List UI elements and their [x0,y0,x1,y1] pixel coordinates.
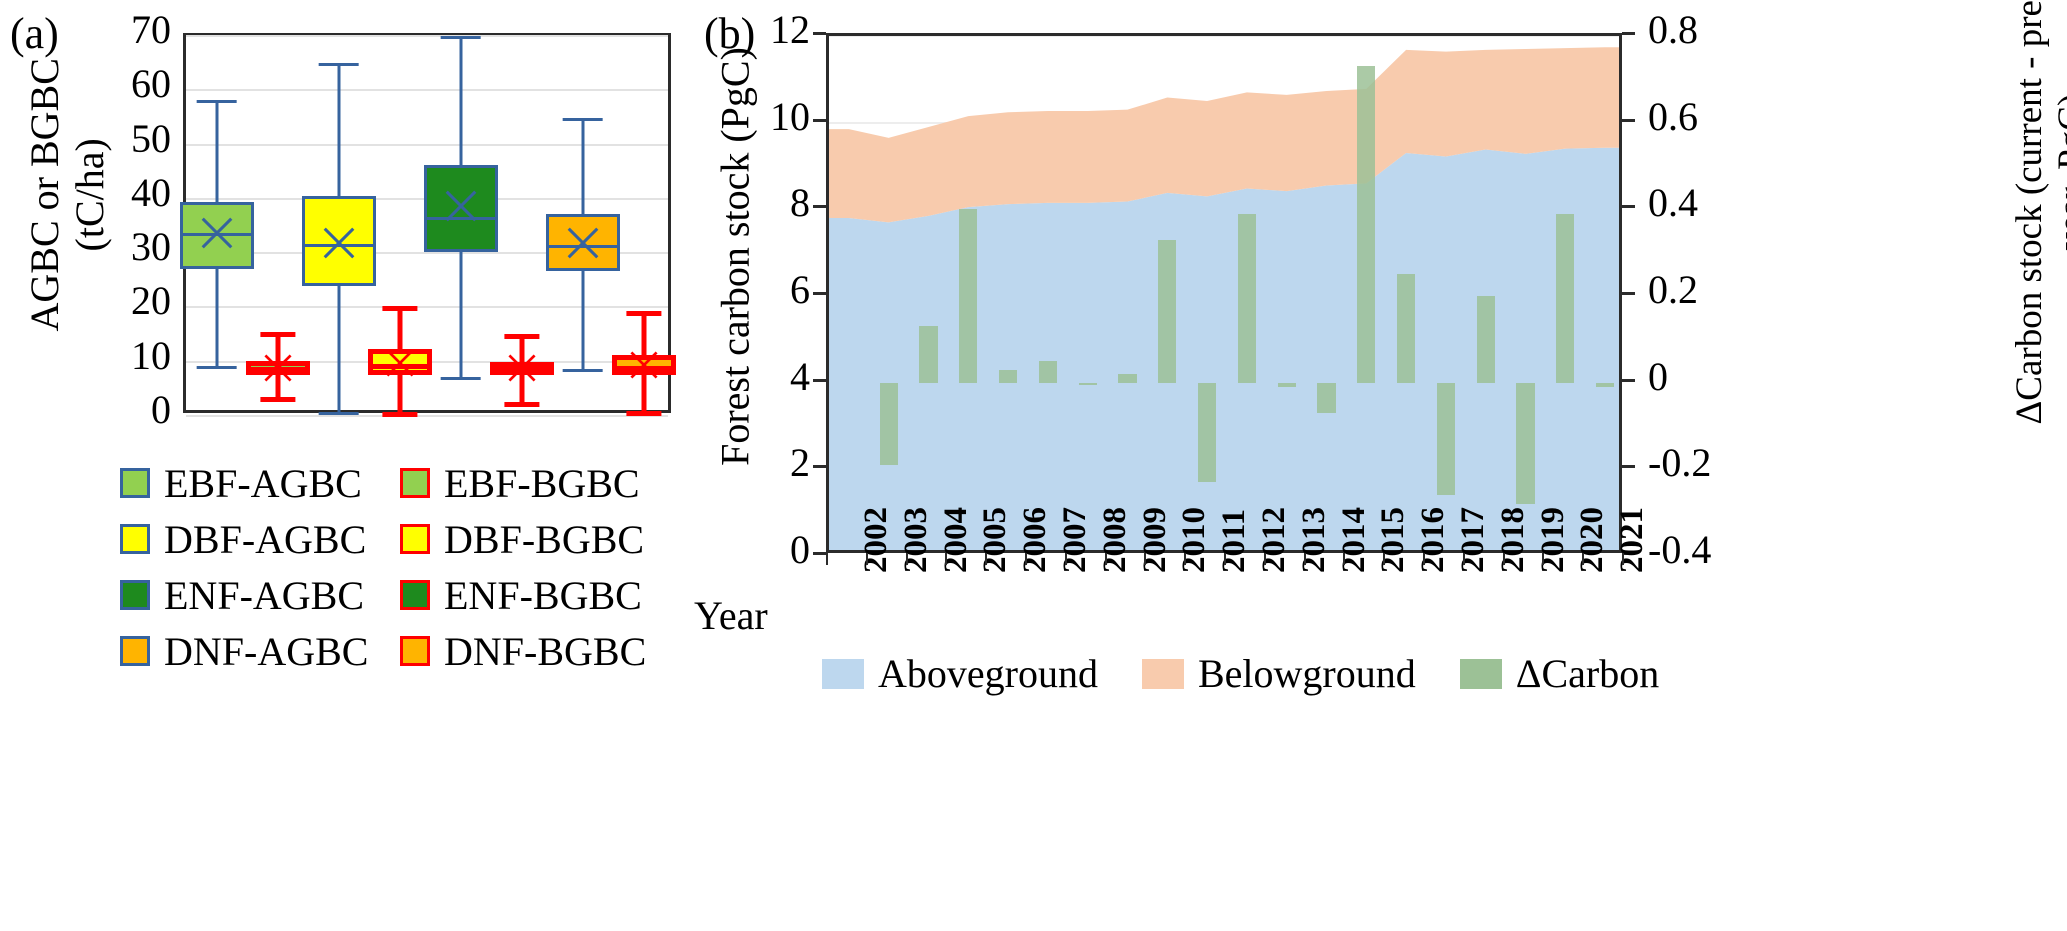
panel-b-left-ticklabel: 10 [714,93,810,140]
legend-item-ebf-bgbc[interactable]: EBF-BGBC [400,460,680,507]
panel-b-x-tickmark [826,553,828,565]
legend-item-enf-bgbc[interactable]: ENF-BGBC [400,572,680,619]
panel-a-legend: EBF-AGBCEBF-BGBCDBF-AGBCDBF-BGBCENF-AGBC… [120,455,680,679]
panel-a-y-ticklabel: 40 [83,169,171,216]
panel-b-right-axis-title-line2: year, PgC) [2051,0,2067,452]
panel-a: (a) AGBC or BGBC (tC/ha) EBF-AGBCEBF-BGB… [0,0,700,931]
panel-b-right-ticklabel: 0.6 [1648,93,1758,140]
panel-b-left-ticklabel: 4 [714,353,810,400]
panel-b-x-tickmark [1105,553,1107,565]
panel-b-left-ticklabel: 2 [714,439,810,486]
mean-marker-icon [566,226,600,260]
panel-b-left-tickmark [813,292,826,295]
whisker-cap-min [626,411,661,416]
delta-carbon-bar [1158,240,1176,383]
panel-b-right-tickmark [1622,379,1635,382]
whisker-cap-max [562,118,603,121]
panel-a-y-ticklabel: 70 [83,6,171,53]
legend-item-belowground[interactable]: Belowground [1142,650,1416,697]
legend-swatch [120,636,150,666]
panel-b-area-svg [829,36,1622,553]
legend-swatch [400,524,430,554]
panel-b-x-tickmark [1383,553,1385,565]
panel-b-year-label: 2012 [1256,507,1293,573]
panel-b-x-tickmark [1144,553,1146,565]
panel-b-left-tickmark [813,379,826,382]
legend-label: DNF-AGBC [164,628,368,675]
legend-label: ΔCarbon [1516,650,1659,697]
panel-b-x-tickmark [1184,553,1186,565]
panel-b-year-label: 2006 [1017,507,1054,573]
legend-swatch [822,659,864,689]
panel-b-right-axis-title: ΔCarbon stock (current - previous year, … [2009,0,2067,452]
delta-carbon-bar [1198,383,1216,483]
panel-b-year-label: 2011 [1216,509,1253,573]
delta-carbon-bar [959,209,977,382]
legend-row: DNF-AGBCDNF-BGBC [120,623,680,679]
panel-b-year-label: 2003 [898,507,935,573]
legend-swatch [1460,659,1502,689]
panel-b-year-label: 2018 [1495,507,1532,573]
panel-a-y-axis-title-line1: AGBC or BGBC [23,0,68,395]
legend-swatch [400,580,430,610]
delta-carbon-bar [1437,383,1455,496]
panel-b-right-ticklabel: 0.2 [1648,266,1758,313]
legend-item-aboveground[interactable]: Aboveground [822,650,1098,697]
whisker-cap-max [196,100,237,103]
delta-carbon-bar [999,370,1017,383]
panel-a-y-ticklabel: 50 [83,115,171,162]
panel-b-year-label: 2019 [1535,507,1572,573]
legend-swatch [400,636,430,666]
legend-swatch [400,468,430,498]
panel-b-x-tickmark [906,553,908,565]
panel-b-legend: AbovegroundBelowgroundΔCarbon [822,650,1682,697]
panel-b-left-tickmark [813,552,826,555]
panel-a-gridline [186,306,668,308]
legend-item-ebf-agbc[interactable]: EBF-AGBC [120,460,400,507]
panel-b-year-label: 2010 [1176,507,1213,573]
delta-carbon-bar [919,326,937,382]
panel-a-y-ticklabel: 60 [83,60,171,107]
whisker-cap-max [382,306,417,311]
panel-a-y-ticklabel: 20 [83,277,171,324]
mean-marker-icon [444,189,478,223]
panel-b-left-ticklabel: 12 [714,6,810,53]
panel-b-left-ticklabel: 8 [714,179,810,226]
delta-carbon-bar [1238,214,1256,383]
legend-swatch [120,468,150,498]
whisker-cap-min [562,369,603,372]
panel-b-right-ticklabel: 0.8 [1648,6,1758,53]
delta-carbon-bar [1516,383,1534,504]
panel-a-gridline [186,35,668,37]
panel-b-year-label: 2008 [1097,507,1134,573]
legend-swatch [120,580,150,610]
delta-carbon-bar [1397,274,1415,382]
whisker-cap-max [260,332,295,337]
whisker-cap-min [382,412,417,417]
panel-b-x-tickmark [1542,553,1544,565]
legend-row: EBF-AGBCEBF-BGBC [120,455,680,511]
panel-b-x-axis-title: Year [694,592,768,639]
panel-b-x-tickmark [1224,553,1226,565]
panel-b-left-ticklabel: 0 [714,526,810,573]
whisker-cap-max [440,36,481,39]
panel-b-right-ticklabel: -0.4 [1648,526,1758,573]
whisker-cap-min [318,412,359,415]
panel-b-x-tickmark [945,553,947,565]
delta-carbon-bar [1357,66,1375,382]
panel-b-x-tickmark [1503,553,1505,565]
panel-b-x-tickmark [1065,553,1067,565]
whisker-cap-min [504,402,539,407]
mean-marker-icon [200,216,234,250]
panel-b-left-tickmark [813,32,826,35]
legend-label: Aboveground [878,650,1098,697]
delta-carbon-bar [1317,383,1335,413]
panel-b-x-tickmark [1582,553,1584,565]
mean-marker-icon [385,348,415,378]
panel-b-plot-area [826,33,1622,553]
legend-item-dbf-agbc[interactable]: DBF-AGBC [120,516,400,563]
panel-a-gridline [186,144,668,146]
panel-a-y-ticklabel: 30 [83,223,171,270]
whisker-cap-min [440,377,481,380]
whisker-cap-max [318,63,359,66]
whisker-cap-min [196,366,237,369]
whisker-cap-max [504,334,539,339]
delta-carbon-bar [1596,383,1614,387]
panel-b-right-tickmark [1622,205,1635,208]
delta-carbon-bar [1278,383,1296,387]
panel-b-year-label: 2002 [858,507,895,573]
legend-label: Belowground [1198,650,1416,697]
panel-b-x-tickmark [1343,553,1345,565]
legend-swatch [1142,659,1184,689]
panel-b-right-ticklabel: 0.4 [1648,179,1758,226]
legend-swatch [120,524,150,554]
panel-b-right-tickmark [1622,465,1635,468]
panel-b-x-tickmark [985,553,987,565]
mean-marker-icon [629,350,659,380]
panel-b-x-tickmark [1025,553,1027,565]
delta-carbon-bar [1039,361,1057,383]
legend-item-dnf-bgbc[interactable]: DNF-BGBC [400,628,680,675]
panel-b-x-tickmark [1423,553,1425,565]
panel-b: (b) Forest carbon stock (PgC) ΔCarbon st… [700,0,2067,931]
whisker-cap-max [626,311,661,316]
panel-b-right-tickmark [1622,292,1635,295]
delta-carbon-bar [1556,214,1574,383]
panel-b-right-axis-title-line1: ΔCarbon stock (current - previous [2009,0,2051,452]
legend-label: EBF-AGBC [164,460,362,507]
legend-row: ENF-AGBCENF-BGBC [120,567,680,623]
panel-b-year-label: 2015 [1375,507,1412,573]
legend-label: DBF-AGBC [164,516,366,563]
panel-b-year-label: 2016 [1415,507,1452,573]
panel-b-left-tickmark [813,465,826,468]
panel-b-left-ticklabel: 6 [714,266,810,313]
legend-label: ENF-AGBC [164,572,364,619]
legend-label: ENF-BGBC [444,572,642,619]
legend-item-dbf-bgbc[interactable]: DBF-BGBC [400,516,680,563]
legend-label: EBF-BGBC [444,460,640,507]
panel-a-gridline [186,415,668,417]
delta-carbon-bar [880,383,898,465]
delta-carbon-bar [1079,383,1097,385]
whisker-cap-min [260,397,295,402]
panel-b-year-label: 2014 [1336,507,1373,573]
figure-root: (a) AGBC or BGBC (tC/ha) EBF-AGBCEBF-BGB… [0,0,2067,931]
panel-b-year-label: 2005 [977,507,1014,573]
panel-b-x-tickmark [1463,553,1465,565]
panel-b-left-tickmark [813,119,826,122]
panel-b-year-label: 2009 [1137,507,1174,573]
legend-item-carbon[interactable]: ΔCarbon [1460,650,1659,697]
panel-b-right-tickmark [1622,119,1635,122]
panel-b-x-tickmark [1622,553,1624,565]
legend-label: DBF-BGBC [444,516,644,563]
delta-carbon-bar [1118,374,1136,383]
panel-b-x-tickmark [866,553,868,565]
panel-a-y-ticklabel: 10 [83,332,171,379]
legend-item-dnf-agbc[interactable]: DNF-AGBC [120,628,400,675]
panel-b-year-label: 2017 [1455,507,1492,573]
panel-b-year-label: 2020 [1574,507,1611,573]
legend-row: DBF-AGBCDBF-BGBC [120,511,680,567]
mean-marker-icon [322,226,356,260]
mean-marker-icon [507,353,537,383]
panel-a-plot-area [183,33,671,413]
panel-b-right-ticklabel: -0.2 [1648,439,1758,486]
delta-carbon-bar [1477,296,1495,383]
panel-b-year-label: 2007 [1057,507,1094,573]
legend-label: DNF-BGBC [444,628,646,675]
panel-b-year-label: 2021 [1614,507,1651,573]
panel-b-left-tickmark [813,205,826,208]
panel-b-right-tickmark [1622,32,1635,35]
panel-b-right-ticklabel: 0 [1648,353,1758,400]
panel-b-year-label: 2013 [1296,507,1333,573]
panel-b-year-label: 2004 [938,507,975,573]
panel-a-gridline [186,89,668,91]
mean-marker-icon [263,353,293,383]
legend-item-enf-agbc[interactable]: ENF-AGBC [120,572,400,619]
panel-b-x-tickmark [1304,553,1306,565]
panel-a-y-ticklabel: 0 [83,386,171,433]
panel-b-x-tickmark [1264,553,1266,565]
